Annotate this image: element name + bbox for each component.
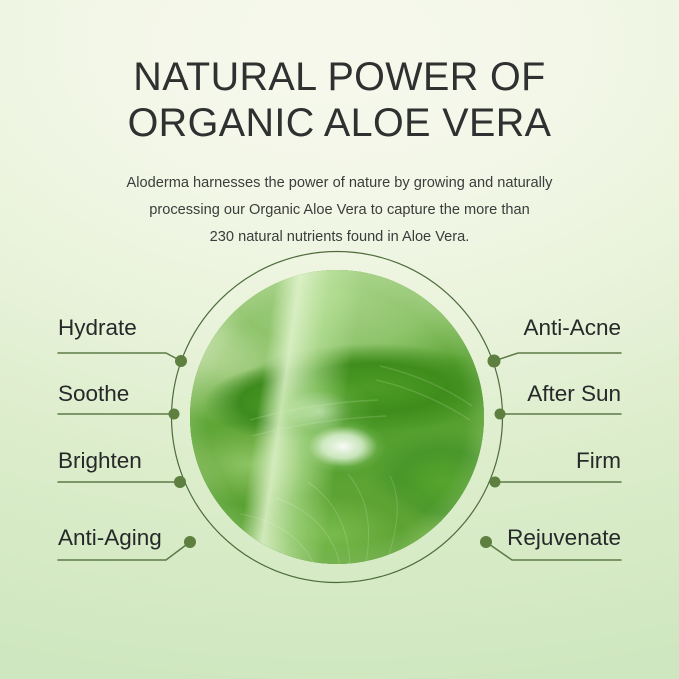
node-dot-firm xyxy=(490,477,501,488)
connector-hydrate xyxy=(58,353,181,361)
benefit-label-after-sun[interactable]: After Sun xyxy=(527,381,621,407)
outer-ring xyxy=(172,252,503,583)
benefit-label-anti-aging[interactable]: Anti-Aging xyxy=(58,525,162,551)
benefit-label-firm[interactable]: Firm xyxy=(576,448,621,474)
node-dot-rejuvenate xyxy=(480,536,492,548)
benefit-label-soothe[interactable]: Soothe xyxy=(58,381,129,407)
node-dot-anti-acne xyxy=(488,355,501,368)
infographic-poster: NATURAL POWER OF ORGANIC ALOE VERA Alode… xyxy=(0,0,679,679)
connector-anti-acne xyxy=(494,353,621,361)
node-dot-anti-aging xyxy=(184,536,196,548)
node-dot-brighten xyxy=(174,476,186,488)
benefit-label-brighten[interactable]: Brighten xyxy=(58,448,142,474)
benefit-label-anti-acne[interactable]: Anti-Acne xyxy=(523,315,621,341)
node-dot-after-sun xyxy=(495,409,506,420)
benefit-label-hydrate[interactable]: Hydrate xyxy=(58,315,137,341)
ring-node-dots xyxy=(169,355,506,549)
benefits-diagram: Hydrate Soothe Brighten Anti-Aging Anti-… xyxy=(0,0,679,679)
node-dot-hydrate xyxy=(175,355,187,367)
node-dot-soothe xyxy=(169,409,180,420)
benefit-label-rejuvenate[interactable]: Rejuvenate xyxy=(507,525,621,551)
